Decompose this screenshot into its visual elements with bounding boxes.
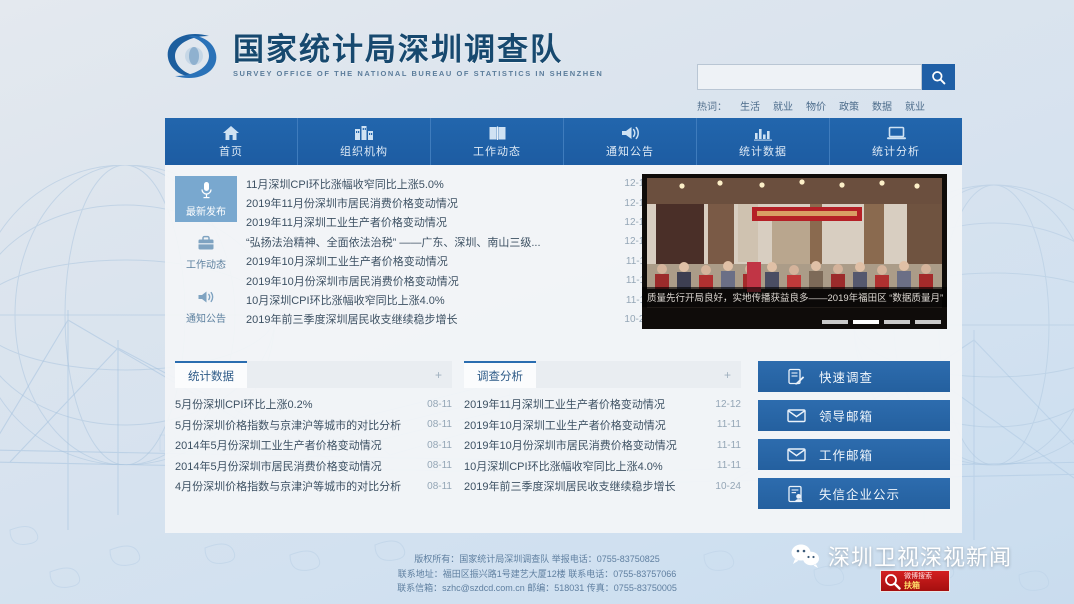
news-title: 11月深圳CPI环比涨幅收窄同比上涨5.0% xyxy=(246,176,616,192)
hot-word-3[interactable]: 政策 xyxy=(839,98,859,113)
news-list-item[interactable]: 2019年前三季度深圳居民收支继续稳步增长 10-24 xyxy=(246,310,650,329)
microphone-icon xyxy=(199,180,214,200)
news-title: 2019年11月份深圳市居民消费价格变动情况 xyxy=(246,195,616,211)
badge-line-1: 微博搜索 xyxy=(904,572,932,581)
bar-chart-icon xyxy=(753,124,773,141)
panel-more-link[interactable]: + xyxy=(724,361,731,388)
news-tab-label-latest: 最新发布 xyxy=(186,203,226,218)
quick-links: 快速调查 领导邮箱 工作邮箱 失信企业公示 xyxy=(758,361,950,517)
magnifier-icon xyxy=(884,573,901,590)
panel-item-title: 2019年11月深圳工业生产者价格变动情况 xyxy=(464,396,709,412)
speaker-icon xyxy=(197,287,216,307)
panel-list-item[interactable]: 2019年10月份深圳市居民消费价格变动情况 11-11 xyxy=(464,435,741,456)
news-list-item[interactable]: 2019年10月深圳工业生产者价格变动情况 11-11 xyxy=(246,252,650,271)
news-title: “弘扬法治精神、全面依法治税” ——广东、深圳、南山三级... xyxy=(246,234,616,250)
book-icon xyxy=(488,124,507,141)
news-list-item[interactable]: 11月深圳CPI环比涨幅收窄同比上涨5.0% 12-12 xyxy=(246,174,650,193)
panel-item-date: 12-12 xyxy=(715,399,741,410)
panel-item-date: 08-11 xyxy=(427,399,452,410)
panel-item-title: 2014年5月份深圳市居民消费价格变动情况 xyxy=(175,458,421,474)
nav-label-work-news: 工作动态 xyxy=(473,143,521,159)
panel-item-title: 5月份深圳价格指数与京津沪等城市的对比分析 xyxy=(175,417,421,433)
panel-list-item[interactable]: 2014年5月份深圳市居民消费价格变动情况 08-11 xyxy=(175,456,452,477)
bureau-logo-icon xyxy=(163,30,221,82)
quick-button-survey[interactable]: 快速调查 xyxy=(758,361,950,392)
news-list-item[interactable]: “弘扬法治精神、全面依法治税” ——广东、深圳、南山三级... 12-10 xyxy=(246,232,650,251)
news-title: 2019年11月深圳工业生产者价格变动情况 xyxy=(246,214,616,230)
news-list-item[interactable]: 2019年10月份深圳市居民消费价格变动情况 11-11 xyxy=(246,271,650,290)
panel-list-item[interactable]: 4月份深圳价格指数与京津沪等城市的对比分析 08-11 xyxy=(175,476,452,497)
nav-item-statistics-analysis[interactable]: 统计分析 xyxy=(830,118,962,165)
hot-word-0[interactable]: 生活 xyxy=(740,98,760,113)
site-page: 国家统计局深圳调查队 SURVEY OFFICE OF THE NATIONAL… xyxy=(0,0,1074,604)
panel-header: 调查分析 + xyxy=(464,361,741,388)
quick-button-dishonest-enterprise[interactable]: 失信企业公示 xyxy=(758,478,950,509)
nav-item-statistics-data[interactable]: 统计数据 xyxy=(697,118,830,165)
news-title: 10月深圳CPI环比涨幅收窄同比上涨4.0% xyxy=(246,292,618,308)
hot-word-5[interactable]: 就业 xyxy=(905,98,925,113)
panel-item-date: 11-11 xyxy=(717,419,741,430)
content-area: 最新发布 工作动态 通知公告 11月深圳CPI环比涨幅收窄同比 xyxy=(165,165,962,533)
news-list-item[interactable]: 2019年11月份深圳市居民消费价格变动情况 12-12 xyxy=(246,193,650,212)
site-title-en: SURVEY OFFICE OF THE NATIONAL BUREAU OF … xyxy=(233,69,603,78)
panel-list: 5月份深圳CPI环比上涨0.2% 08-11 5月份深圳价格指数与京津沪等城市的… xyxy=(175,388,452,497)
panel-list-item[interactable]: 2014年5月份深圳工业生产者价格变动情况 08-11 xyxy=(175,435,452,456)
panel-list-item[interactable]: 2019年10月深圳工业生产者价格变动情况 11-11 xyxy=(464,415,741,436)
nav-label-statistics-data: 统计数据 xyxy=(739,143,787,159)
news-category-tabs: 最新发布 工作动态 通知公告 xyxy=(175,174,237,329)
news-tab-label-announcement: 通知公告 xyxy=(186,310,226,325)
panel-list-item[interactable]: 10月深圳CPI环比涨幅收窄同比上涨4.0% 11-11 xyxy=(464,456,741,477)
nav-item-organization[interactable]: 组织机构 xyxy=(298,118,431,165)
badge-line-2: 扶箱 xyxy=(904,581,932,590)
search-area: 热词： 生活 就业 物价 政策 数据 就业 xyxy=(697,64,955,113)
panel-list-item[interactable]: 5月份深圳价格指数与京津沪等城市的对比分析 08-11 xyxy=(175,415,452,436)
news-list: 11月深圳CPI环比涨幅收窄同比上涨5.0% 12-12 2019年11月份深圳… xyxy=(237,174,650,329)
panel-item-date: 08-11 xyxy=(427,481,452,492)
nav-label-statistics-analysis: 统计分析 xyxy=(872,143,920,159)
quick-button-leader-mail[interactable]: 领导邮箱 xyxy=(758,400,950,431)
mail-icon xyxy=(786,447,806,462)
quick-button-work-mail[interactable]: 工作邮箱 xyxy=(758,439,950,470)
news-list-item[interactable]: 10月深圳CPI环比涨幅收窄同比上涨4.0% 11-11 xyxy=(246,290,650,309)
panel-list-item[interactable]: 2019年前三季度深圳居民收支继续稳步增长 10-24 xyxy=(464,476,741,497)
main-navigation: 首页 组织机构 工作动态 通知公告 统计数据 xyxy=(165,118,962,165)
site-brand[interactable]: 国家统计局深圳调查队 SURVEY OFFICE OF THE NATIONAL… xyxy=(163,30,603,82)
banner-dot[interactable] xyxy=(822,320,848,324)
panel-survey-analysis: 调查分析 + 2019年11月深圳工业生产者价格变动情况 12-12 2019年… xyxy=(464,361,741,497)
news-list-item[interactable]: 2019年11月深圳工业生产者价格变动情况 12-12 xyxy=(246,213,650,232)
panel-item-date: 08-11 xyxy=(427,419,452,430)
nav-label-home: 首页 xyxy=(219,143,243,159)
news-title: 2019年10月深圳工业生产者价格变动情况 xyxy=(246,253,618,269)
news-title: 2019年前三季度深圳居民收支继续稳步增长 xyxy=(246,311,616,327)
site-header: 国家统计局深圳调查队 SURVEY OFFICE OF THE NATIONAL… xyxy=(0,22,1074,102)
search-icon xyxy=(931,70,946,85)
nav-label-organization: 组织机构 xyxy=(340,143,388,159)
nav-label-announcement: 通知公告 xyxy=(606,143,654,159)
hot-word-1[interactable]: 就业 xyxy=(773,98,793,113)
info-panels: 统计数据 + 5月份深圳CPI环比上涨0.2% 08-11 5月份深圳价格指数与… xyxy=(175,361,741,497)
panel-list-item[interactable]: 2019年11月深圳工业生产者价格变动情况 12-12 xyxy=(464,394,741,415)
quick-button-label: 领导邮箱 xyxy=(819,406,873,425)
quick-button-label: 工作邮箱 xyxy=(819,445,873,464)
banner-dot[interactable] xyxy=(884,320,910,324)
quick-button-label: 快速调查 xyxy=(819,367,873,386)
hot-words-label: 热词： xyxy=(697,98,727,113)
panel-list: 2019年11月深圳工业生产者价格变动情况 12-12 2019年10月深圳工业… xyxy=(464,388,741,497)
search-row xyxy=(697,64,955,90)
hot-word-2[interactable]: 物价 xyxy=(806,98,826,113)
mail-icon xyxy=(786,408,806,423)
panel-tab[interactable]: 调查分析 xyxy=(464,361,536,388)
search-button[interactable] xyxy=(922,64,955,90)
news-tab-latest[interactable]: 最新发布 xyxy=(175,176,237,222)
banner-dot-active[interactable] xyxy=(853,320,879,324)
news-banner-carousel[interactable]: 质量先行开局良好，实地传播获益良多——2019年福田区 “数据质量月” xyxy=(642,174,947,329)
panel-item-date: 10-24 xyxy=(715,481,741,492)
megaphone-icon xyxy=(620,124,640,141)
home-icon xyxy=(222,124,240,141)
panel-item-title: 2019年前三季度深圳居民收支继续稳步增长 xyxy=(464,478,709,494)
organization-icon xyxy=(354,124,374,141)
news-tab-work[interactable]: 工作动态 xyxy=(175,229,237,275)
panel-list-item[interactable]: 5月份深圳CPI环比上涨0.2% 08-11 xyxy=(175,394,452,415)
panel-header: 统计数据 + xyxy=(175,361,452,388)
panel-item-title: 5月份深圳CPI环比上涨0.2% xyxy=(175,396,421,412)
document-person-icon xyxy=(786,485,806,503)
nav-item-home[interactable]: 首页 xyxy=(165,118,298,165)
banner-pagination[interactable] xyxy=(822,320,941,324)
search-promo-badge: 微博搜索 扶箱 xyxy=(880,570,950,592)
laptop-icon xyxy=(886,124,907,141)
panel-item-date: 11-11 xyxy=(717,440,741,451)
hot-words: 热词： 生活 就业 物价 政策 数据 就业 xyxy=(697,98,955,113)
hot-word-4[interactable]: 数据 xyxy=(872,98,892,113)
panel-more-link[interactable]: + xyxy=(435,361,442,388)
footer-line-copyright: 版权所有：国家统计局深圳调查队 举报电话：0755-83750825 xyxy=(0,552,1074,567)
banner-caption: 质量先行开局良好，实地传播获益良多——2019年福田区 “数据质量月” xyxy=(642,287,947,307)
panel-tab[interactable]: 统计数据 xyxy=(175,361,247,388)
news-block: 最新发布 工作动态 通知公告 11月深圳CPI环比涨幅收窄同比 xyxy=(175,174,650,329)
site-title-cn: 国家统计局深圳调查队 xyxy=(233,34,603,67)
briefcase-icon xyxy=(197,233,215,253)
panel-item-date: 08-11 xyxy=(427,440,452,451)
panel-item-title: 10月深圳CPI环比涨幅收窄同比上涨4.0% xyxy=(464,458,711,474)
panel-item-date: 11-11 xyxy=(717,460,741,471)
news-tab-label-work: 工作动态 xyxy=(186,256,226,271)
panel-item-title: 2019年10月份深圳市居民消费价格变动情况 xyxy=(464,437,711,453)
panel-statistics-data: 统计数据 + 5月份深圳CPI环比上涨0.2% 08-11 5月份深圳价格指数与… xyxy=(175,361,452,497)
quick-button-label: 失信企业公示 xyxy=(819,484,900,503)
search-input[interactable] xyxy=(697,64,922,90)
nav-item-work-news[interactable]: 工作动态 xyxy=(431,118,564,165)
panel-item-date: 08-11 xyxy=(427,460,452,471)
panel-item-title: 2019年10月深圳工业生产者价格变动情况 xyxy=(464,417,711,433)
banner-dot[interactable] xyxy=(915,320,941,324)
nav-item-announcement[interactable]: 通知公告 xyxy=(564,118,697,165)
panel-item-title: 4月份深圳价格指数与京津沪等城市的对比分析 xyxy=(175,478,421,494)
panel-item-title: 2014年5月份深圳工业生产者价格变动情况 xyxy=(175,437,421,453)
news-tab-announcement[interactable]: 通知公告 xyxy=(175,283,237,329)
news-title: 2019年10月份深圳市居民消费价格变动情况 xyxy=(246,273,618,289)
survey-icon xyxy=(786,368,806,386)
